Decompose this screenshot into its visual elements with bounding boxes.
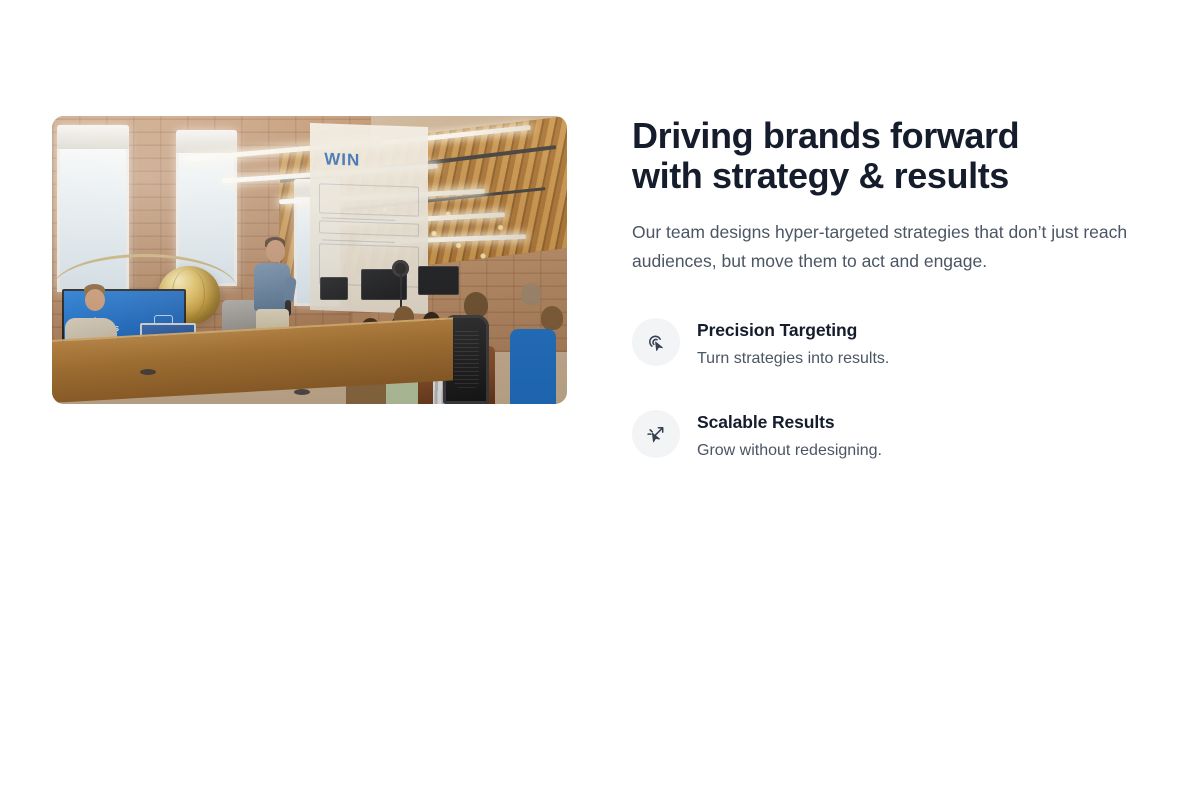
office-meeting-photo: WIN Proof ALL HANDS solutions xyxy=(52,116,567,404)
presenter-head xyxy=(266,240,285,262)
mural-sketch xyxy=(319,183,418,216)
monitor xyxy=(418,266,459,295)
section-description: Our team designs hyper-targeted strategi… xyxy=(632,218,1148,276)
feature-description: Turn strategies into results. xyxy=(697,348,889,370)
feature-title: Scalable Results xyxy=(697,411,882,433)
feature-item-scalable-results: Scalable Results Grow without redesignin… xyxy=(632,410,1152,462)
monitor xyxy=(320,277,348,300)
table-puck xyxy=(294,389,310,395)
mural-word-win: WIN xyxy=(324,149,360,170)
cursor-growth-arrow-icon xyxy=(632,410,680,458)
audience-head xyxy=(464,292,488,318)
audience-body xyxy=(510,329,556,404)
mural-sketch xyxy=(319,220,418,237)
mural-line xyxy=(321,217,394,221)
page-title: Driving brands forward with strategy & r… xyxy=(632,116,1132,196)
headline-line-1: Driving brands forward xyxy=(632,115,1019,156)
section-content: Driving brands forward with strategy & r… xyxy=(632,116,1152,462)
table-puck xyxy=(140,369,156,375)
feature-description: Grow without redesigning. xyxy=(697,440,882,462)
marketing-section: WIN Proof ALL HANDS solutions xyxy=(0,0,1200,800)
audience-head xyxy=(521,283,541,305)
mural-line xyxy=(321,239,394,243)
feature-text: Scalable Results Grow without redesignin… xyxy=(697,410,882,462)
feature-title: Precision Targeting xyxy=(697,319,889,341)
window-blind xyxy=(176,130,238,152)
hero-image: WIN Proof ALL HANDS solutions xyxy=(52,116,567,404)
feature-item-precision-targeting: Precision Targeting Turn strategies into… xyxy=(632,318,1152,370)
audience-head xyxy=(541,306,563,330)
cursor-click-target-icon xyxy=(632,318,680,366)
feature-text: Precision Targeting Turn strategies into… xyxy=(697,318,889,370)
headline-line-2: with strategy & results xyxy=(632,155,1009,196)
window-blind xyxy=(57,125,129,149)
feature-list: Precision Targeting Turn strategies into… xyxy=(632,318,1152,462)
